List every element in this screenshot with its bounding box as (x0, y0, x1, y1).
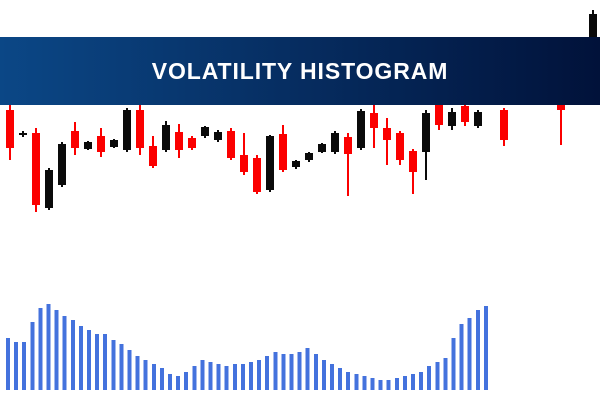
histogram-bar (184, 372, 188, 390)
candle-body (19, 133, 27, 135)
price-candlestick-panel (0, 0, 600, 220)
candlestick (474, 110, 482, 128)
candle-body (422, 113, 430, 152)
candlestick (58, 142, 66, 187)
candlestick (318, 143, 326, 153)
candle-body (266, 136, 274, 190)
histogram-bar (152, 364, 156, 390)
histogram-bar (298, 352, 302, 390)
histogram-bar (273, 352, 277, 390)
candle-body (448, 112, 456, 126)
candle-body (227, 131, 235, 158)
histogram-bar (249, 362, 253, 390)
histogram-bar (233, 364, 237, 390)
candle-body (214, 132, 222, 140)
candlestick (84, 141, 92, 150)
histogram-bar (63, 316, 67, 390)
candle-body (175, 132, 183, 150)
candlestick (331, 131, 339, 154)
candlestick-series (0, 0, 600, 220)
candle-body (500, 110, 508, 140)
candle-body (110, 140, 118, 147)
histogram-bar (136, 356, 140, 390)
histogram-bar (30, 322, 34, 390)
candlestick (32, 128, 40, 212)
candlestick (97, 128, 105, 157)
histogram-bar (306, 348, 310, 390)
histogram-bar (354, 374, 358, 390)
candle-body (149, 146, 157, 166)
histogram-bar (22, 342, 26, 390)
histogram-bar (111, 340, 115, 390)
candlestick (240, 133, 248, 175)
histogram-bar (322, 360, 326, 390)
histogram-bar (87, 330, 91, 390)
candle-body (396, 133, 404, 160)
histogram-bar (47, 304, 51, 390)
histogram-bar (371, 378, 375, 390)
histogram-bar (119, 344, 123, 390)
candlestick (71, 122, 79, 155)
histogram-bar (209, 362, 213, 390)
candle-body (58, 144, 66, 185)
candlestick (201, 126, 209, 138)
candlestick (292, 160, 300, 169)
candle-body (97, 136, 105, 152)
candle-body (279, 134, 287, 170)
candlestick (227, 128, 235, 160)
candle-body (32, 133, 40, 205)
histogram-bar (443, 358, 447, 390)
histogram-bar (95, 334, 99, 390)
histogram-bar (395, 378, 399, 390)
histogram-bar (411, 374, 415, 390)
candle-body (136, 110, 144, 148)
histogram-bar (79, 326, 83, 390)
histogram-bar (362, 376, 366, 390)
histogram-bar (484, 306, 488, 390)
candle-body (253, 158, 261, 192)
candlestick (175, 124, 183, 158)
histogram-bar (200, 360, 204, 390)
histogram-bar (144, 360, 148, 390)
histogram-bar (346, 372, 350, 390)
candlestick (19, 131, 27, 137)
candle-body (84, 142, 92, 149)
candle-body (383, 128, 391, 140)
candle-body (318, 144, 326, 152)
histogram-bar-series (0, 290, 600, 400)
volatility-histogram-chart: VOLATILITY HISTOGRAM (0, 0, 600, 400)
candle-body (474, 112, 482, 126)
candlestick (6, 104, 14, 160)
histogram-bar (419, 372, 423, 390)
histogram-bar (192, 366, 196, 390)
candle-body (370, 113, 378, 128)
candle-body (409, 151, 417, 172)
candlestick (123, 108, 131, 152)
candle-body (188, 138, 196, 148)
candle-body (240, 155, 248, 172)
histogram-bar (257, 360, 261, 390)
candlestick (188, 136, 196, 150)
histogram-bar (468, 318, 472, 390)
page-title: VOLATILITY HISTOGRAM (152, 60, 449, 83)
histogram-bar (314, 354, 318, 390)
histogram-bar (265, 356, 269, 390)
histogram-bar (452, 338, 456, 390)
histogram-bar (338, 368, 342, 390)
histogram-bar (160, 368, 164, 390)
candle-wick (386, 118, 388, 165)
histogram-bar (387, 380, 391, 390)
candle-body (123, 110, 131, 150)
candlestick (162, 121, 170, 152)
candlestick (110, 139, 118, 148)
candlestick (305, 152, 313, 162)
candle-body (71, 131, 79, 148)
candle-body (331, 133, 339, 152)
histogram-bar (379, 380, 383, 390)
histogram-bar (168, 374, 172, 390)
candlestick (370, 104, 378, 148)
candle-body (357, 111, 365, 148)
candlestick (149, 136, 157, 168)
candle-body (344, 137, 352, 154)
candlestick (136, 104, 144, 155)
volatility-histogram-panel (0, 290, 600, 400)
candle-body (435, 104, 443, 125)
histogram-bar (427, 366, 431, 390)
candle-body (292, 161, 300, 167)
histogram-bar (55, 310, 59, 390)
histogram-bar (103, 334, 107, 390)
candlestick (396, 131, 404, 165)
histogram-bar (217, 364, 221, 390)
histogram-bar (6, 338, 10, 390)
candlestick (448, 108, 456, 130)
histogram-bar (71, 320, 75, 390)
histogram-bar (128, 350, 132, 390)
candlestick (344, 133, 352, 196)
histogram-bar (403, 376, 407, 390)
histogram-bar (38, 308, 42, 390)
candlestick (253, 155, 261, 194)
histogram-bar (14, 342, 18, 390)
histogram-bar (290, 354, 294, 390)
candle-body (6, 110, 14, 148)
histogram-bar (281, 354, 285, 390)
histogram-bar (225, 366, 229, 390)
candle-body (45, 170, 53, 208)
candlestick (557, 102, 565, 145)
histogram-bar (176, 376, 180, 390)
candlestick (461, 103, 469, 126)
histogram-bar (241, 364, 245, 390)
candlestick (45, 168, 53, 210)
title-banner: VOLATILITY HISTOGRAM (0, 37, 600, 105)
histogram-bar (435, 362, 439, 390)
histogram-bar (330, 364, 334, 390)
histogram-bar (460, 324, 464, 390)
candlestick (214, 130, 222, 142)
candlestick (383, 118, 391, 165)
histogram-bar (476, 310, 480, 390)
candlestick (422, 110, 430, 180)
candle-body (305, 153, 313, 160)
candle-body (162, 125, 170, 150)
candlestick (500, 108, 508, 146)
candle-body (461, 106, 469, 122)
candlestick (266, 135, 274, 192)
candlestick (357, 109, 365, 150)
candle-body (201, 127, 209, 136)
candlestick (409, 149, 417, 194)
candlestick (279, 125, 287, 172)
